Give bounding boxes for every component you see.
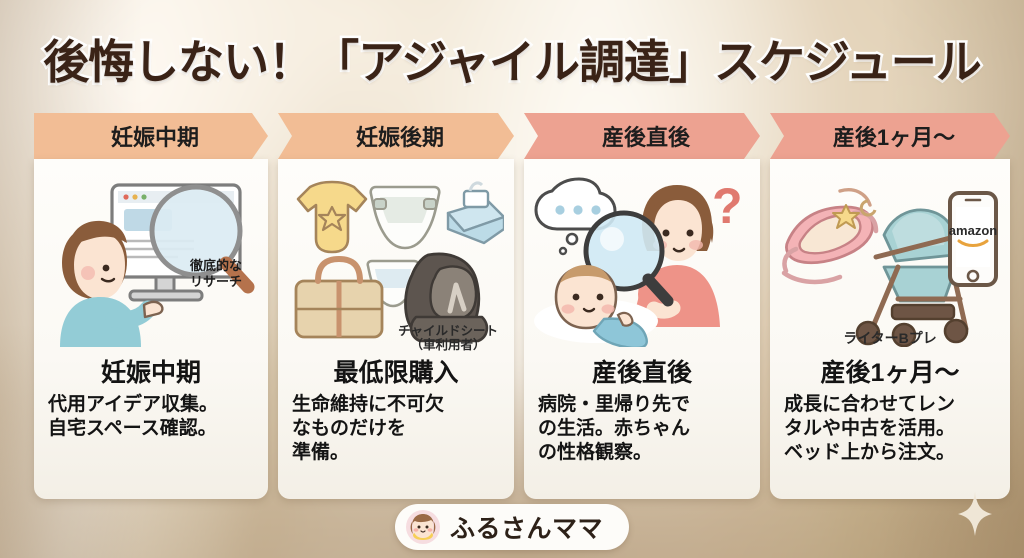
stage-card-body-2: 生命維持に不可欠 なものだけを 準備。 xyxy=(288,393,504,464)
stage-card-body-4: 成長に合わせてレン タルや中古を活用。 ベッド上から注文。 xyxy=(780,393,1000,464)
woman-avatar-icon xyxy=(405,509,441,545)
stage-ribbon-label-4: 産後1ヶ月〜 xyxy=(825,120,955,152)
brand-name: ふるさんママ xyxy=(450,509,603,545)
svg-text:?: ? xyxy=(712,178,743,234)
infographic-canvas: 後悔しない！「アジャイル調達」スケジュール 妊娠中期 xyxy=(0,0,1024,558)
timeline-column-4: 産後1ヶ月〜 xyxy=(770,113,1010,499)
stage-ribbon-label-1: 妊娠中期 xyxy=(103,120,199,152)
amazon-logo-text: amazon xyxy=(949,223,997,238)
illustration-woman-researching-on-computer: 徹底的な リサーチ xyxy=(44,167,258,349)
stage-ribbon-3[interactable]: 産後直後 xyxy=(524,113,760,159)
title-area: 後悔しない！「アジャイル調達」スケジュール xyxy=(0,26,1024,92)
illustration-baby-essentials-items: チャイルドシート （車利用者） xyxy=(288,167,504,349)
illustration-caption-2: チャイルドシート （車利用者） xyxy=(398,324,498,354)
stage-card-1: 徹底的な リサーチ 妊娠中期 代用アイデア収集。 自宅スペース確認。 xyxy=(34,159,268,499)
stage-card-title-3: 産後直後 xyxy=(592,353,692,389)
illustration-caption-4: ライターBプレ xyxy=(780,330,1000,347)
stage-ribbon-label-2: 妊娠後期 xyxy=(348,120,444,152)
illustration-caption-1: 徹底的な リサーチ xyxy=(190,258,242,289)
stage-ribbon-4[interactable]: 産後1ヶ月〜 xyxy=(770,113,1010,159)
sparkle-decoration xyxy=(958,492,992,536)
timeline-columns: 妊娠中期 xyxy=(34,113,992,499)
timeline-column-2: 妊娠後期 xyxy=(278,113,514,499)
timeline-column-1: 妊娠中期 xyxy=(34,113,268,499)
stage-card-title-1: 妊娠中期 xyxy=(101,353,201,389)
stage-card-title-4: 産後1ヶ月〜 xyxy=(821,353,960,389)
stage-card-2: チャイルドシート （車利用者） 最低限購入 生命維持に不可欠 なものだけを 準備… xyxy=(278,159,514,499)
illustration-mother-observing-baby: ? xyxy=(534,167,750,349)
brand-badge[interactable]: ふるさんママ xyxy=(395,504,629,550)
stage-card-body-1: 代用アイデア収集。 自宅スペース確認。 xyxy=(44,393,258,441)
stage-card-body-3: 病院・里帰り先で の生活。赤ちゃん の性格観察。 xyxy=(534,393,750,464)
page-title: 後悔しない！「アジャイル調達」スケジュール xyxy=(43,26,981,92)
stage-ribbon-label-3: 産後直後 xyxy=(594,120,690,152)
stage-ribbon-1[interactable]: 妊娠中期 xyxy=(34,113,268,159)
stage-card-4: amazon ライターBプレ 産後1ヶ月〜 成長に合わせてレン タルや中古を活用… xyxy=(770,159,1010,499)
stage-ribbon-2[interactable]: 妊娠後期 xyxy=(278,113,514,159)
illustration-bouncer-stroller-phone: amazon ライターBプレ xyxy=(780,167,1000,349)
stage-card-title-2: 最低限購入 xyxy=(333,353,458,389)
stage-card-3: ? xyxy=(524,159,760,499)
timeline-column-3: 産後直後 ? xyxy=(524,113,760,499)
